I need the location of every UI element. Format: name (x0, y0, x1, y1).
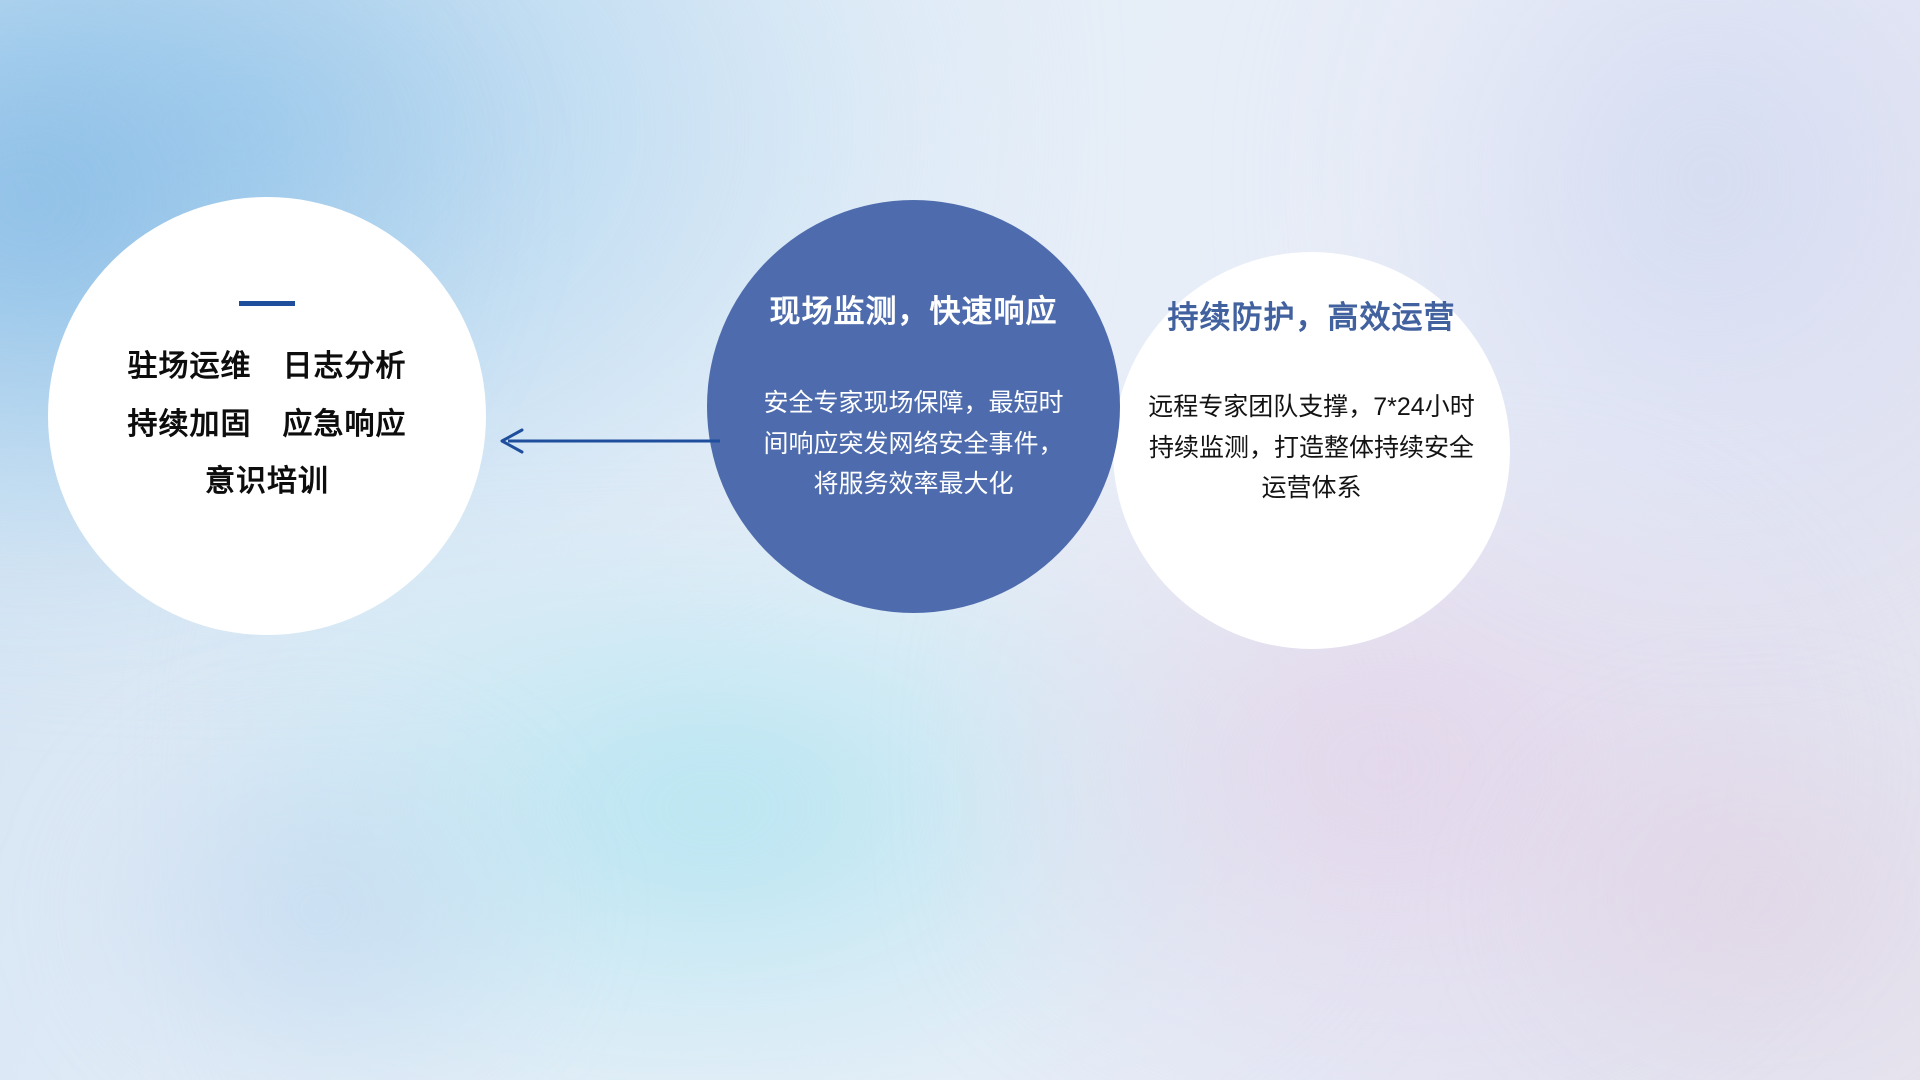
left-capability-circle: 驻场运维 日志分析 持续加固 应急响应 意识培训 (48, 197, 486, 635)
left-arrow-icon (492, 418, 722, 464)
capability-line-3: 意识培训 (205, 463, 329, 501)
onsite-monitoring-body: 安全专家现场保障，最短时间响应突发网络安全事件，将服务效率最大化 (764, 383, 1064, 505)
capability-line-2: 持续加固 应急响应 (128, 406, 407, 444)
onsite-monitoring-circle: 现场监测，快速响应 安全专家现场保障，最短时间响应突发网络安全事件，将服务效率最… (707, 200, 1120, 613)
onsite-monitoring-title: 现场监测，快速响应 (770, 286, 1058, 331)
slide-canvas: 驻场运维 日志分析 持续加固 应急响应 意识培训 现场监测，快速响应 安全专家现… (0, 0, 1920, 1080)
left-circle-text-group: 驻场运维 日志分析 持续加固 应急响应 意识培训 (128, 348, 407, 501)
capability-line-1: 驻场运维 日志分析 (128, 348, 407, 386)
continuous-protection-title: 持续防护，高效运营 (1168, 292, 1456, 337)
continuous-protection-body: 远程专家团队支撑，7*24小时持续监测，打造整体持续安全运营体系 (1139, 387, 1484, 509)
accent-dash-icon (239, 301, 295, 306)
background-wash-lower-left (60, 700, 580, 1080)
continuous-protection-circle: 持续防护，高效运营 远程专家团队支撑，7*24小时持续监测，打造整体持续安全运营… (1113, 252, 1510, 649)
background-wash-lower-right (1500, 700, 1920, 1080)
